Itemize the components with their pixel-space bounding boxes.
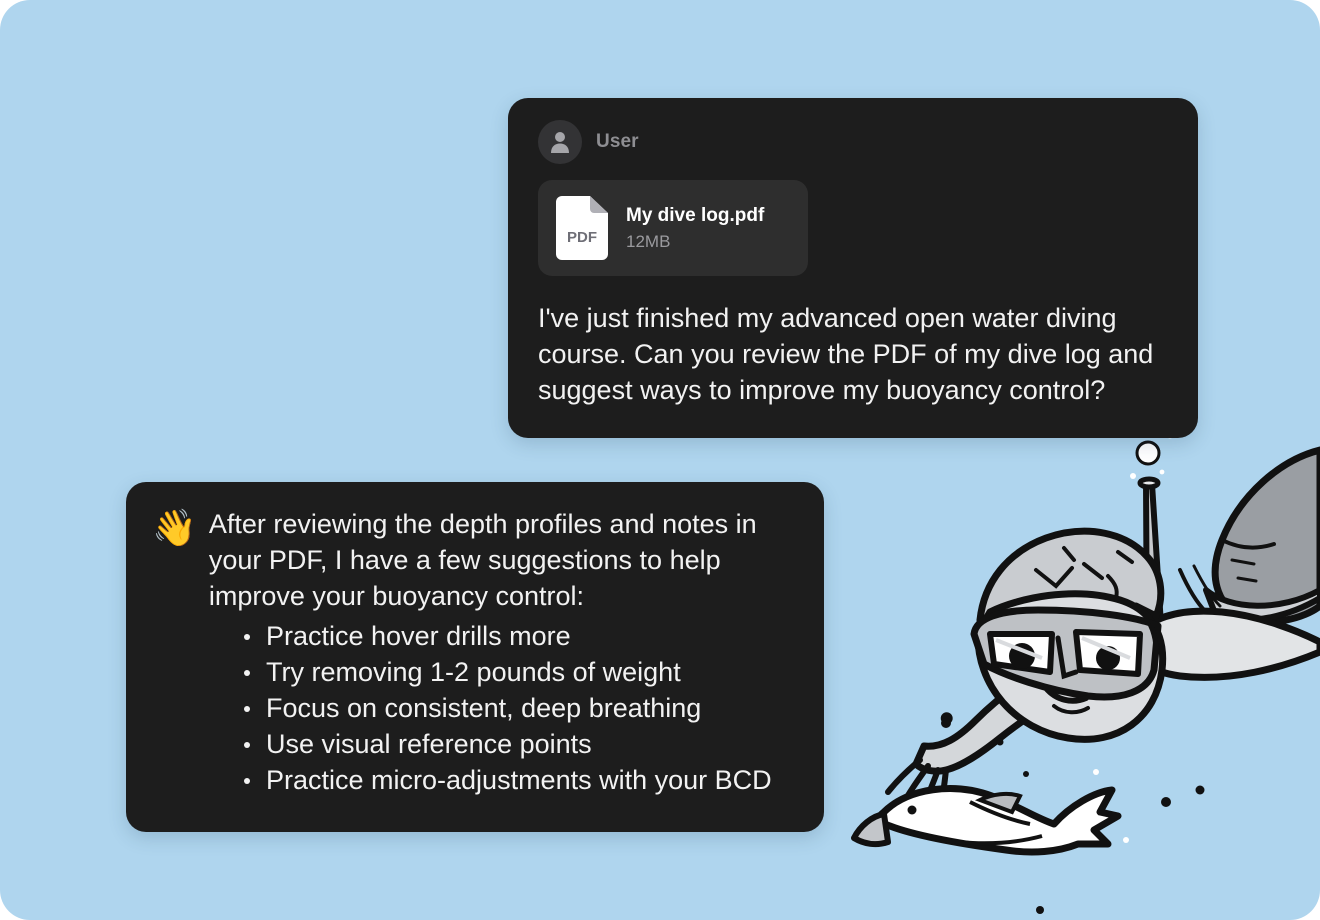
assistant-message-bubble: 👋 After reviewing the depth profiles and… <box>126 482 824 832</box>
suggestion-list: Practice hover drills more Try removing … <box>152 618 794 798</box>
list-item: Practice hover drills more <box>240 618 794 654</box>
fish-illustration <box>854 789 1118 852</box>
snorkeler-head <box>974 531 1163 739</box>
pdf-file-icon: PDF <box>556 196 608 260</box>
blue-canvas-background: User PDF My dive log.pdf 12MB I've just … <box>0 0 1320 920</box>
snorkeler-underwater-illustration <box>850 420 1320 920</box>
attachment-file-size: 12MB <box>626 232 764 252</box>
list-item: Focus on consistent, deep breathing <box>240 690 794 726</box>
wetsuit-arm <box>1206 450 1320 621</box>
avatar <box>538 120 582 164</box>
svg-text:PDF: PDF <box>567 229 597 246</box>
waving-hand-emoji: 👋 <box>152 506 197 548</box>
assistant-intro-row: 👋 After reviewing the depth profiles and… <box>152 506 794 614</box>
user-message-bubble: User PDF My dive log.pdf 12MB I've just … <box>508 98 1198 438</box>
person-icon <box>549 130 571 154</box>
attachment-file-name: My dive log.pdf <box>626 205 764 227</box>
small-bubbles-icon <box>941 712 1205 914</box>
assistant-intro-text: After reviewing the depth profiles and n… <box>209 506 794 614</box>
user-message-header: User <box>538 120 1166 164</box>
list-item: Practice micro-adjustments with your BCD <box>240 762 794 798</box>
user-role-label: User <box>596 131 639 153</box>
user-message-text: I've just finished my advanced open wate… <box>538 300 1166 408</box>
screenshot-root: User PDF My dive log.pdf 12MB I've just … <box>0 0 1320 920</box>
snorkel-icon <box>1140 479 1163 660</box>
attachment-card[interactable]: PDF My dive log.pdf 12MB <box>538 180 808 276</box>
list-item: Try removing 1-2 pounds of weight <box>240 654 794 690</box>
snorkeler-body <box>888 566 1320 814</box>
list-item: Use visual reference points <box>240 726 794 762</box>
